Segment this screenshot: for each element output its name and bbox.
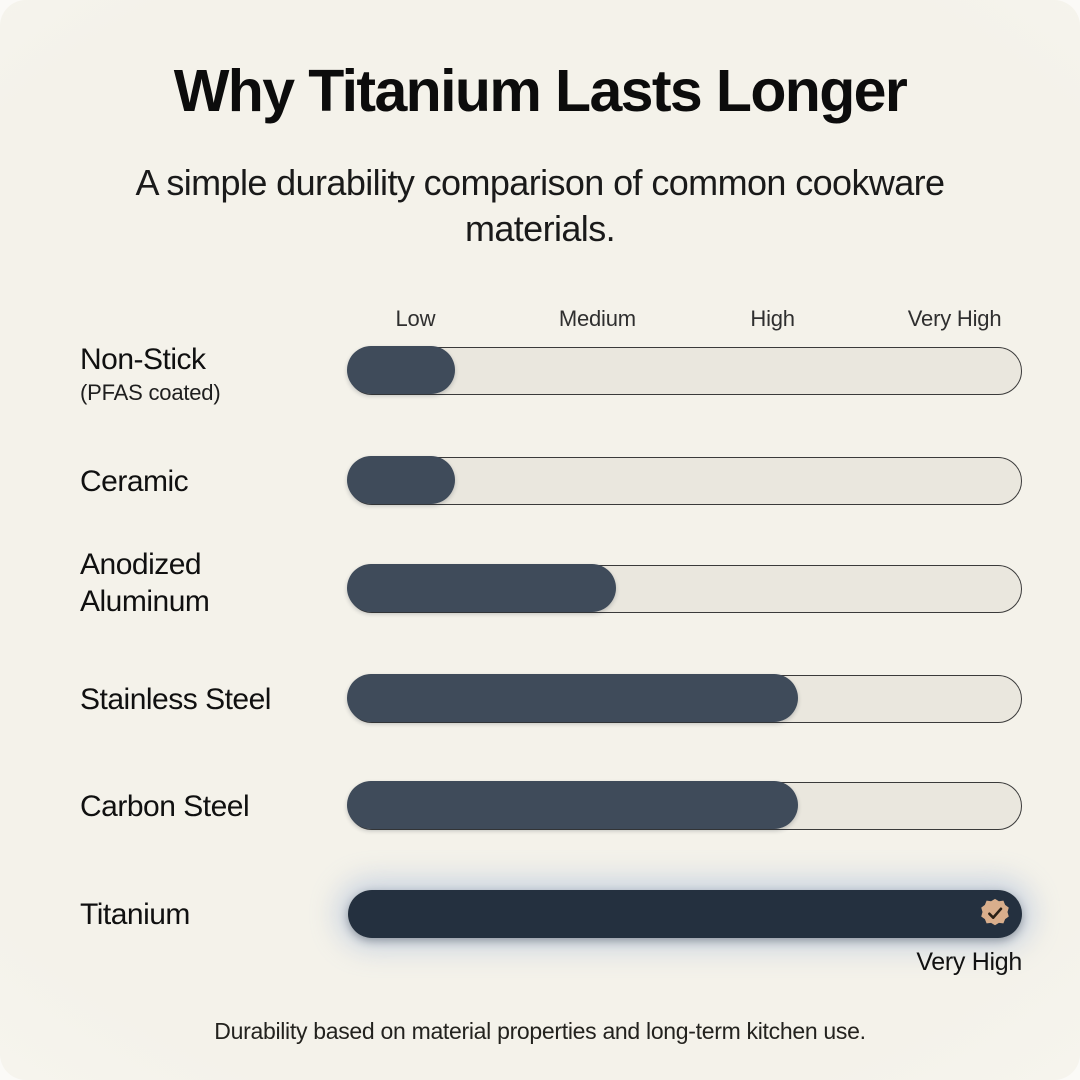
bar-fill-non-stick [347,346,455,394]
bar-row-non-stick: Non-Stick (PFAS coated) [0,343,1080,401]
bar-row-carbon-steel: Carbon Steel [0,778,1080,836]
bar-track-stainless-steel [348,675,1022,723]
scale-tick-very-high: Very High [908,306,1002,332]
page-subtitle: A simple durability comparison of common… [130,160,950,252]
row-sublabel-text: (PFAS coated) [80,380,330,406]
bar-row-ceramic: Ceramic [0,453,1080,511]
infographic-card: Why Titanium Lasts Longer A simple durab… [0,0,1080,1080]
bar-fill-stainless-steel [347,674,797,722]
row-label-text: Anodized Aluminum [80,547,330,620]
footnote: Durability based on material properties … [0,1018,1080,1045]
row-label-text: Non-Stick [80,342,330,379]
scale-axis: Low Medium High Very High [348,306,1022,334]
row-label-text: Ceramic [80,464,330,501]
bar-fill-ceramic [347,456,455,504]
bar-track-ceramic [348,457,1022,505]
bar-track-non-stick [348,347,1022,395]
row-label-text: Carbon Steel [80,789,330,826]
row-label-ceramic: Ceramic [80,464,330,501]
bar-row-anodized-aluminum: Anodized Aluminum [0,561,1080,619]
scale-tick-high: High [750,306,794,332]
bar-row-titanium: Titanium Very High [0,886,1080,944]
bar-track-carbon-steel [348,782,1022,830]
scale-tick-medium: Medium [559,306,636,332]
row-label-stainless-steel: Stainless Steel [80,682,330,719]
titanium-rating-caption: Very High [348,948,1022,977]
scale-tick-low: Low [396,306,436,332]
row-label-carbon-steel: Carbon Steel [80,789,330,826]
bar-row-stainless-steel: Stainless Steel [0,671,1080,729]
bar-fill-anodized-aluminum [347,564,616,612]
row-label-titanium: Titanium [80,897,330,934]
row-label-text: Stainless Steel [80,682,330,719]
bar-track-titanium [348,890,1022,938]
verified-check-badge-icon [978,897,1012,931]
bar-fill-carbon-steel [347,781,797,829]
bar-fill-titanium [348,890,1022,938]
bar-track-anodized-aluminum [348,565,1022,613]
row-label-non-stick: Non-Stick (PFAS coated) [80,342,330,406]
row-label-anodized-aluminum: Anodized Aluminum [80,547,330,620]
row-label-text: Titanium [80,897,330,934]
page-title: Why Titanium Lasts Longer [0,62,1080,121]
